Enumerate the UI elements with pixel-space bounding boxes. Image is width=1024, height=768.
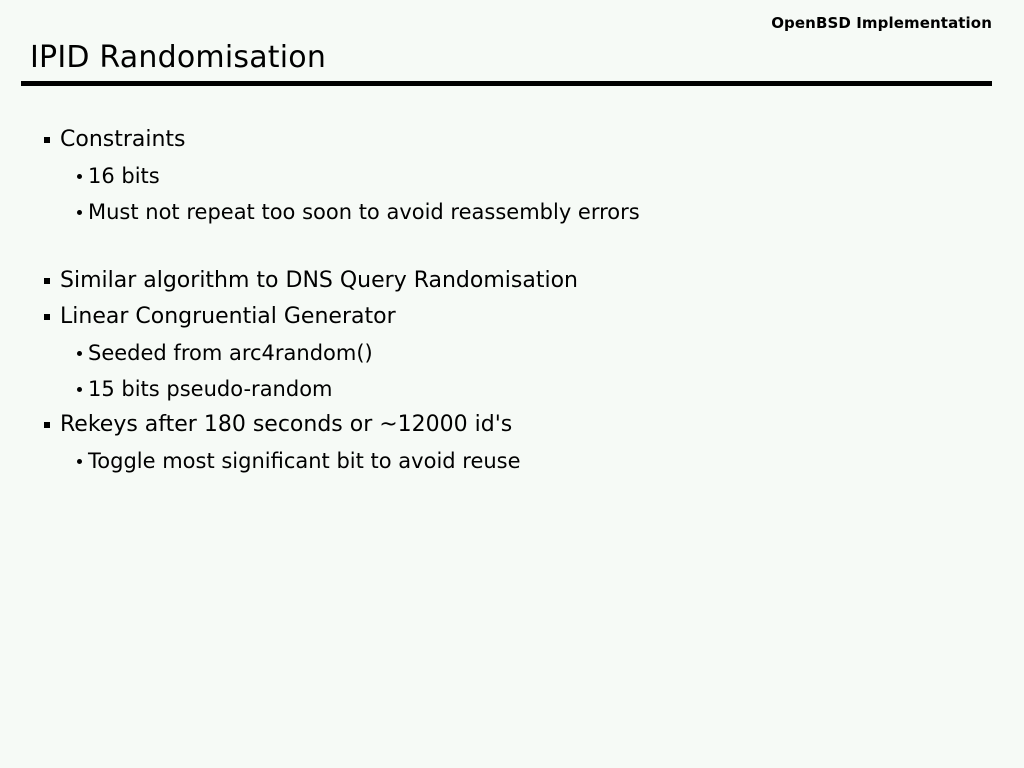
bullet-text: Toggle most significant bit to avoid reu… bbox=[88, 443, 521, 479]
bullet-item: Constraints bbox=[0, 122, 1024, 158]
round-bullet-icon bbox=[77, 351, 82, 356]
bullet-text: Linear Congruential Generator bbox=[60, 299, 396, 335]
bullet-item: 15 bits pseudo-random bbox=[0, 371, 1024, 407]
round-bullet-icon bbox=[77, 387, 82, 392]
square-bullet-icon bbox=[44, 278, 50, 284]
bullet-item: Must not repeat too soon to avoid reasse… bbox=[0, 194, 1024, 230]
square-bullet-icon bbox=[44, 314, 50, 320]
bullet-text: 15 bits pseudo-random bbox=[88, 371, 333, 407]
header-note: OpenBSD Implementation bbox=[771, 14, 992, 32]
slide: OpenBSD Implementation IPID Randomisatio… bbox=[0, 0, 1024, 768]
bullet-item: Toggle most significant bit to avoid reu… bbox=[0, 443, 1024, 479]
square-bullet-icon bbox=[44, 422, 50, 428]
bullet-item: Rekeys after 180 seconds or ~12000 id's bbox=[0, 407, 1024, 443]
bullet-spacer bbox=[0, 230, 1024, 263]
round-bullet-icon bbox=[77, 459, 82, 464]
round-bullet-icon bbox=[77, 210, 82, 215]
bullet-text: Must not repeat too soon to avoid reasse… bbox=[88, 194, 640, 230]
bullet-list: Constraints16 bitsMust not repeat too so… bbox=[0, 122, 1024, 479]
bullet-text: Similar algorithm to DNS Query Randomisa… bbox=[60, 263, 578, 299]
bullet-item: Seeded from arc4random() bbox=[0, 335, 1024, 371]
title-divider bbox=[21, 81, 992, 86]
bullet-text: Rekeys after 180 seconds or ~12000 id's bbox=[60, 407, 512, 443]
bullet-text: 16 bits bbox=[88, 158, 160, 194]
square-bullet-icon bbox=[44, 137, 50, 143]
page-title: IPID Randomisation bbox=[30, 40, 326, 75]
bullet-item: Linear Congruential Generator bbox=[0, 299, 1024, 335]
round-bullet-icon bbox=[77, 174, 82, 179]
bullet-text: Seeded from arc4random() bbox=[88, 335, 373, 371]
bullet-item: Similar algorithm to DNS Query Randomisa… bbox=[0, 263, 1024, 299]
bullet-text: Constraints bbox=[60, 122, 186, 158]
bullet-item: 16 bits bbox=[0, 158, 1024, 194]
